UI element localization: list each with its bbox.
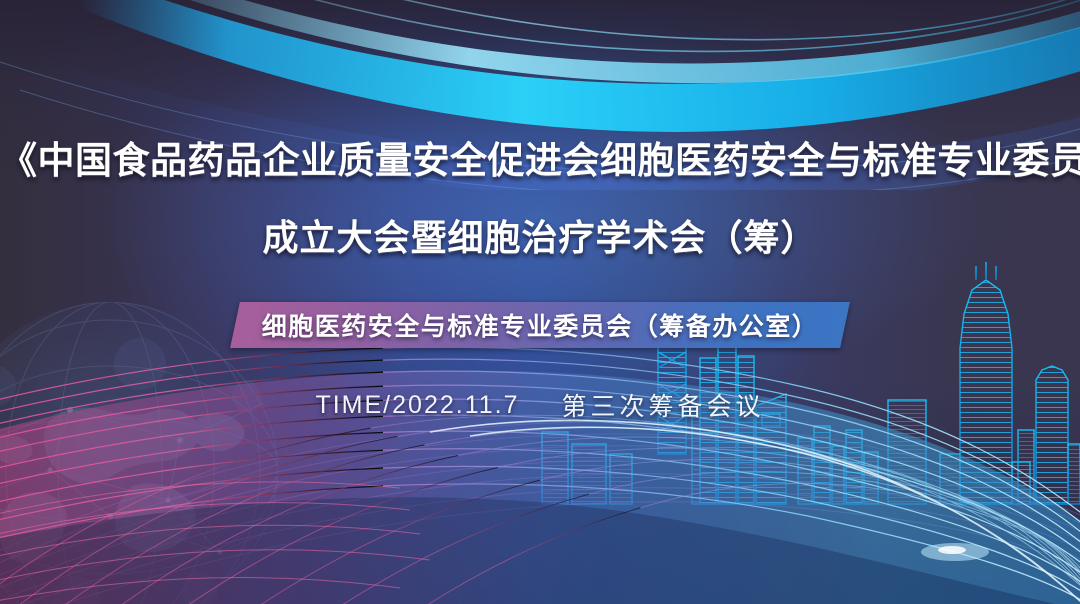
poster-content: 《中国食品药品企业质量安全促进会细胞医药安全与标准专业委员会》 成立大会暨细胞治… [0, 0, 1080, 604]
time-label: TIME/2022.11.7 [315, 391, 519, 420]
conference-poster: 《中国食品药品企业质量安全促进会细胞医药安全与标准专业委员会》 成立大会暨细胞治… [0, 0, 1080, 604]
meeting-label: 第三次筹备会议 [562, 387, 765, 423]
committee-band-label: 细胞医药安全与标准专业委员会（筹备办公室） [0, 302, 1080, 348]
time-row: TIME/2022.11.7 第三次筹备会议 [0, 387, 1080, 423]
page-subtitle: 成立大会暨细胞治疗学术会（筹） [0, 212, 1080, 264]
page-title: 《中国食品药品企业质量安全促进会细胞医药安全与标准专业委员会》 [0, 136, 1080, 186]
